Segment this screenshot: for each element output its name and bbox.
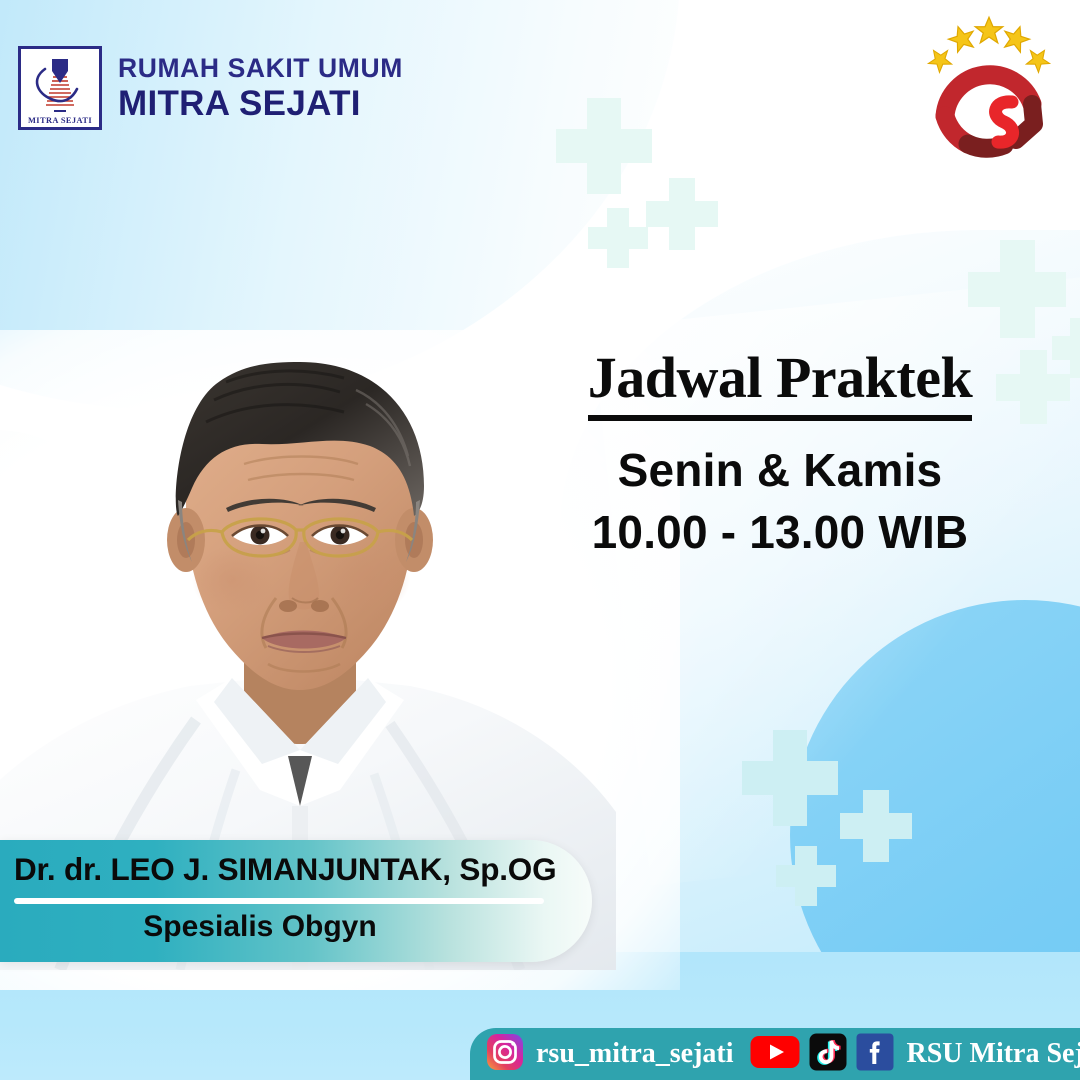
instagram-icon[interactable] — [486, 1033, 524, 1076]
medical-cross-icon — [742, 730, 838, 826]
hospital-name-line1: RUMAH SAKIT UMUM — [118, 55, 403, 82]
doctor-specialty: Spesialis Obgyn — [0, 910, 520, 944]
poster-canvas: MITRA SEJATI RUMAH SAKIT UMUM MITRA SEJA… — [0, 0, 1080, 1080]
hospital-name-line2: MITRA SEJATI — [118, 86, 403, 121]
svg-text:MITRA SEJATI: MITRA SEJATI — [28, 116, 92, 125]
youtube-icon[interactable] — [750, 1034, 800, 1075]
medical-cross-icon — [646, 178, 718, 250]
facebook-icon[interactable] — [856, 1033, 894, 1076]
doctor-name: Dr. dr. LEO J. SIMANJUNTAK, Sp.OG — [14, 851, 574, 888]
schedule-time: 10.00 - 13.00 WIB — [560, 505, 1000, 559]
hospital-name-block: RUMAH SAKIT UMUM MITRA SEJATI — [118, 55, 403, 121]
schedule-title: Jadwal Praktek — [588, 344, 973, 421]
tiktok-icon[interactable] — [809, 1033, 847, 1076]
medical-cross-icon — [1052, 318, 1080, 378]
hospital-logo-lockup: MITRA SEJATI RUMAH SAKIT UMUM MITRA SEJA… — [18, 46, 403, 130]
hospital-logo-mark: MITRA SEJATI — [18, 46, 102, 130]
schedule-block: Jadwal Praktek Senin & Kamis 10.00 - 13.… — [560, 344, 1000, 559]
facebook-page-name: RSU Mitra Sejati — [907, 1038, 1080, 1070]
schedule-days: Senin & Kamis — [560, 443, 1000, 497]
kars-accreditation-logo — [912, 12, 1064, 160]
medical-cross-icon — [840, 790, 912, 862]
banner-divider — [14, 898, 544, 904]
doctor-name-banner: Dr. dr. LEO J. SIMANJUNTAK, Sp.OG Spesia… — [0, 840, 592, 962]
instagram-handle: rsu_mitra_sejati — [536, 1038, 734, 1070]
footer-social-bar: rsu_mitra_sejati RSU Mitra Sejati — [470, 1028, 1080, 1080]
medical-cross-icon — [776, 846, 836, 906]
medical-cross-icon — [556, 98, 652, 194]
